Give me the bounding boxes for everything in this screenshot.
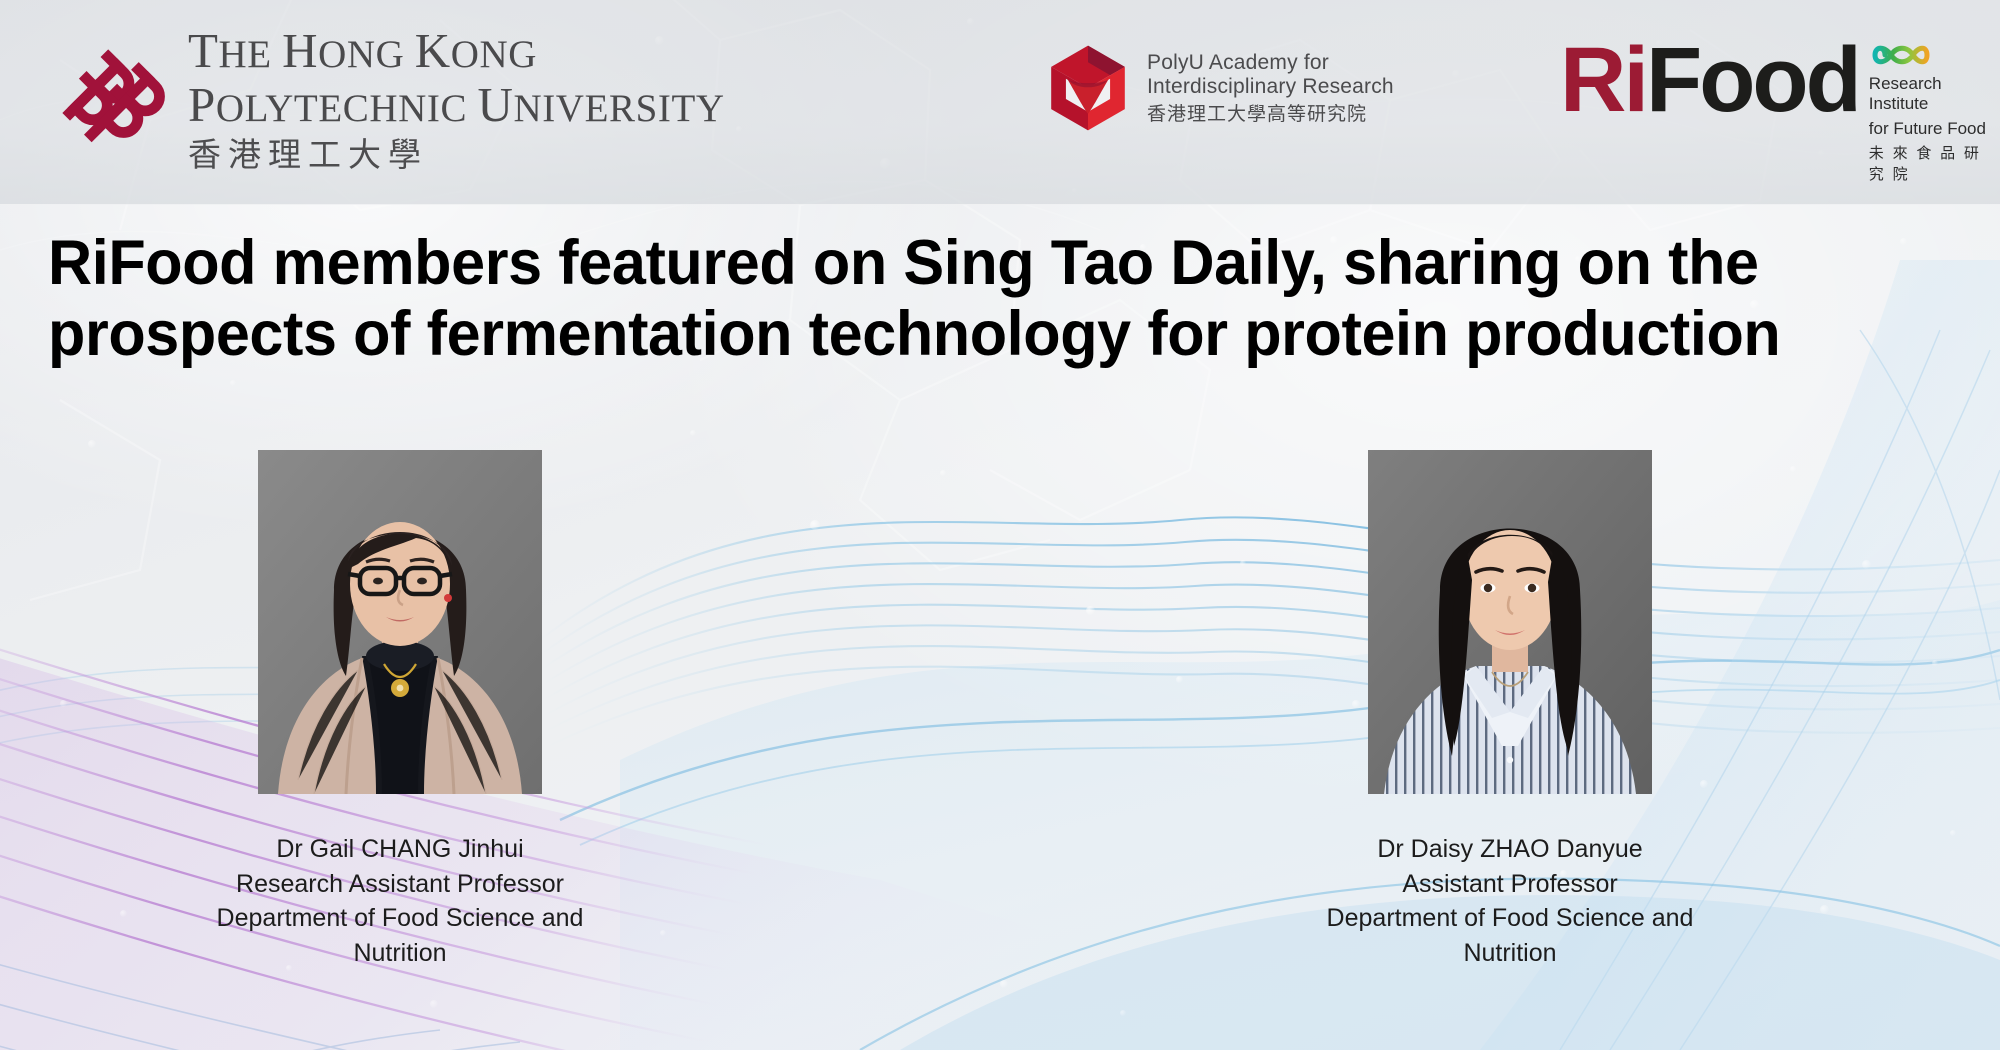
- page-title: RiFood members featured on Sing Tao Dail…: [48, 228, 1958, 369]
- person-rank-left: Research Assistant Professor: [180, 867, 620, 902]
- rifood-wordmark: RiFood: [1560, 36, 1859, 124]
- infinity-icon: [1869, 40, 1931, 70]
- header-logo-band: THE HONG KONG POLYTECHNIC UNIVERSITY 香港理…: [0, 0, 2000, 205]
- polyu-academy-interdisciplinary-research-logo: PolyU Academy for Interdisciplinary Rese…: [1045, 42, 1394, 134]
- slide-canvas: THE HONG KONG POLYTECHNIC UNIVERSITY 香港理…: [0, 0, 2000, 1050]
- polyu-olytechnic: OLYTECHNIC: [216, 87, 478, 130]
- polyu-he: HE: [219, 33, 283, 76]
- caption-right: Dr Daisy ZHAO Danyue Assistant Professor…: [1290, 832, 1730, 970]
- paif-line-2: Interdisciplinary Research: [1147, 75, 1394, 100]
- portrait-photo-daisy-zhao: [1368, 450, 1652, 794]
- person-department-left: Department of Food Science and Nutrition: [180, 901, 620, 970]
- paif-cube-icon: [1045, 42, 1131, 134]
- person-name-left: Dr Gail CHANG Jinhui: [180, 832, 620, 867]
- caption-left: Dr Gail CHANG Jinhui Research Assistant …: [180, 832, 620, 970]
- polyu-name-line-2: POLYTECHNIC UNIVERSITY: [188, 80, 725, 129]
- paif-chinese: 香港理工大學高等研究院: [1147, 103, 1394, 125]
- rifood-food-text: Food: [1646, 29, 1859, 131]
- portrait-illustration-right: [1368, 450, 1652, 794]
- hk-polyu-logo: THE HONG KONG POLYTECHNIC UNIVERSITY 香港理…: [58, 26, 725, 171]
- polyu-niversity: NIVERSITY: [513, 87, 724, 130]
- rifood-ri-text: Ri: [1560, 29, 1646, 131]
- polyu-ong: ONG: [318, 33, 415, 76]
- polyu-cap-h: H: [282, 23, 318, 78]
- title-line-1: RiFood members featured on Sing Tao Dail…: [48, 228, 1901, 299]
- paif-wordmark: PolyU Academy for Interdisciplinary Rese…: [1147, 51, 1394, 126]
- rifood-subtitle-line-1: Research Institute: [1869, 74, 2000, 115]
- polyu-cap-u: U: [477, 77, 513, 132]
- polyu-cap-k: K: [415, 23, 451, 78]
- polyu-name-line-1: THE HONG KONG: [188, 26, 725, 75]
- rifood-logo: RiFood Research Institute for Future Foo: [1560, 36, 2000, 184]
- paif-line-1: PolyU Academy for: [1147, 51, 1394, 76]
- person-card-left: Dr Gail CHANG Jinhui Research Assistant …: [180, 450, 620, 970]
- rifood-chinese: 未 來 食 品 研 究 院: [1869, 142, 2000, 184]
- person-rank-right: Assistant Professor: [1290, 867, 1730, 902]
- rifood-subtitle-line-2: for Future Food: [1869, 119, 2000, 139]
- portrait-photo-gail-chang: [258, 450, 542, 794]
- title-line-2: prospects of fermentation technology for…: [48, 299, 1901, 370]
- rifood-tagline-block: Research Institute for Future Food 未 來 食…: [1869, 40, 2000, 184]
- portrait-illustration-left: [258, 450, 542, 794]
- polyu-ong2: ONG: [451, 33, 537, 76]
- polyu-cap-p: P: [188, 77, 216, 132]
- person-name-right: Dr Daisy ZHAO Danyue: [1290, 832, 1730, 867]
- person-card-right: Dr Daisy ZHAO Danyue Assistant Professor…: [1290, 450, 1730, 970]
- person-department-right: Department of Food Science and Nutrition: [1290, 901, 1730, 970]
- polyu-name-chinese: 香港理工大學: [188, 138, 725, 171]
- polyu-wordmark: THE HONG KONG POLYTECHNIC UNIVERSITY 香港理…: [188, 26, 725, 171]
- polyu-cap-t: T: [188, 23, 219, 78]
- polyu-knot-icon: [58, 39, 166, 159]
